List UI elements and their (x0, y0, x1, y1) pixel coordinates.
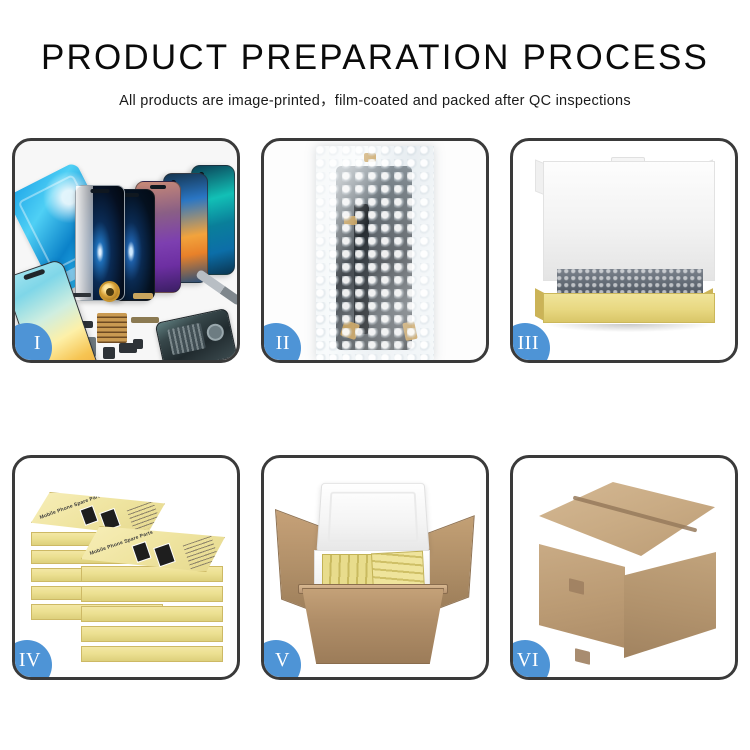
flex-cable-part (73, 293, 91, 297)
spare-parts-cluster (73, 281, 237, 360)
carton-front-face (539, 544, 625, 648)
foam-lid (316, 483, 429, 552)
plastic-gloss (316, 146, 434, 360)
stacked-box (81, 586, 223, 602)
drop-shadow (547, 324, 711, 332)
carton-tape-patch (575, 648, 590, 665)
header: PRODUCT PREPARATION PROCESS All products… (0, 0, 750, 110)
screen-thumbnail (131, 541, 151, 563)
page-subtitle: All products are image-printed，film-coat… (0, 89, 750, 110)
bubble-wrap-bag (316, 146, 434, 360)
stacked-box (81, 606, 223, 622)
ribbon-cable-part (131, 317, 159, 323)
stacked-boxes: Mobile Phone Spare Parts Mobile Phone Sp… (25, 474, 230, 670)
stacked-box (81, 646, 223, 662)
carton-side-face (624, 552, 716, 658)
process-step-grid: I II (12, 138, 738, 680)
box-tray-yellow (543, 293, 715, 323)
carton-top-face (539, 482, 715, 556)
outer-carton-open (302, 588, 444, 664)
phone-chassis-open (155, 308, 237, 360)
step-3-photo (513, 141, 735, 360)
sensor-part (133, 339, 143, 349)
notch-icon (150, 185, 166, 189)
process-step-3: III (510, 138, 738, 363)
stacked-box (81, 626, 223, 642)
label-spec-lines (127, 501, 162, 533)
product-preparation-infographic: PRODUCT PREPARATION PROCESS All products… (0, 0, 750, 750)
connector-part (133, 293, 153, 299)
process-step-5: V (261, 455, 489, 680)
step-5-photo (264, 458, 486, 677)
process-step-2: II (261, 138, 489, 363)
label-spec-lines (183, 536, 220, 569)
camera-ring-part (99, 281, 120, 302)
step-6-photo (513, 458, 735, 677)
notch-icon (123, 193, 139, 197)
step-1-photo (15, 141, 237, 360)
process-step-6: VI (510, 455, 738, 680)
copper-mesh-part (97, 313, 127, 343)
speaker-part (103, 347, 115, 359)
screen-thumbnail (153, 543, 176, 567)
process-step-4: Mobile Phone Spare Parts Mobile Phone Sp… (12, 455, 240, 680)
process-step-1: I (12, 138, 240, 363)
step-2-photo (264, 141, 486, 360)
step-4-photo: Mobile Phone Spare Parts Mobile Phone Sp… (15, 458, 237, 677)
page-title: PRODUCT PREPARATION PROCESS (0, 38, 750, 78)
screen-thumbnail (80, 505, 99, 526)
box-lid-white (543, 161, 715, 281)
